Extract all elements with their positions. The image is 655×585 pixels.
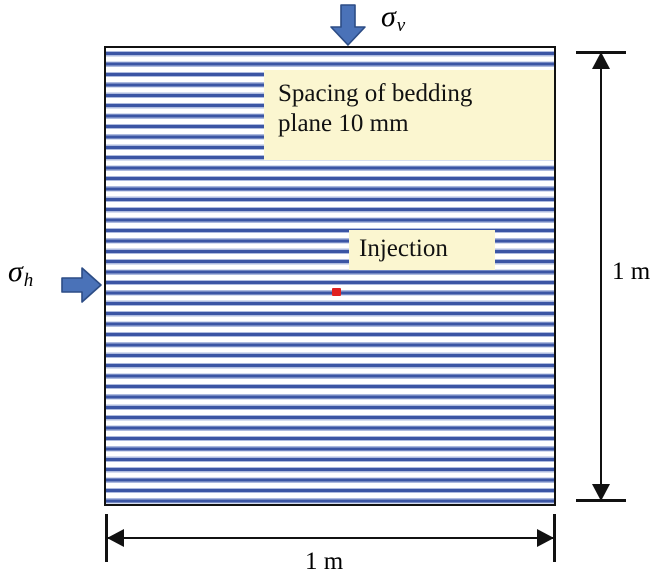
horizontal-stress-arrow-icon — [60, 263, 104, 312]
width-dimension-label: 1 m — [305, 548, 343, 576]
sigma-h-symbol: σ — [8, 255, 23, 288]
vertical-stress-label: σv — [381, 0, 405, 37]
sigma-h-subscript: h — [24, 270, 34, 291]
bedding-spacing-line2: plane 10 mm — [278, 109, 546, 139]
sigma-v-subscript: v — [397, 15, 405, 36]
width-dimension-arrow-left — [107, 529, 124, 547]
width-dimension-line — [106, 537, 554, 539]
injection-callout: Injection — [349, 230, 495, 270]
width-dimension-arrow-right — [537, 529, 554, 547]
bedding-spacing-line1: Spacing of bedding — [278, 79, 546, 109]
vertical-stress-arrow-icon — [326, 3, 370, 52]
horizontal-stress-label: σh — [8, 255, 33, 292]
specimen-block: Spacing of bedding plane 10 mm Injection — [104, 46, 556, 506]
height-dimension-arrow-down — [592, 484, 610, 501]
height-dimension-label: 1 m — [612, 258, 650, 286]
injection-label: Injection — [359, 235, 448, 262]
height-dimension-arrow-up — [592, 52, 610, 69]
injection-point-marker — [332, 288, 341, 296]
figure-canvas: Spacing of bedding plane 10 mm Injection… — [0, 0, 655, 585]
sigma-v-symbol: σ — [381, 0, 396, 33]
height-dimension-line — [600, 52, 602, 500]
bedding-spacing-callout: Spacing of bedding plane 10 mm — [264, 70, 556, 160]
